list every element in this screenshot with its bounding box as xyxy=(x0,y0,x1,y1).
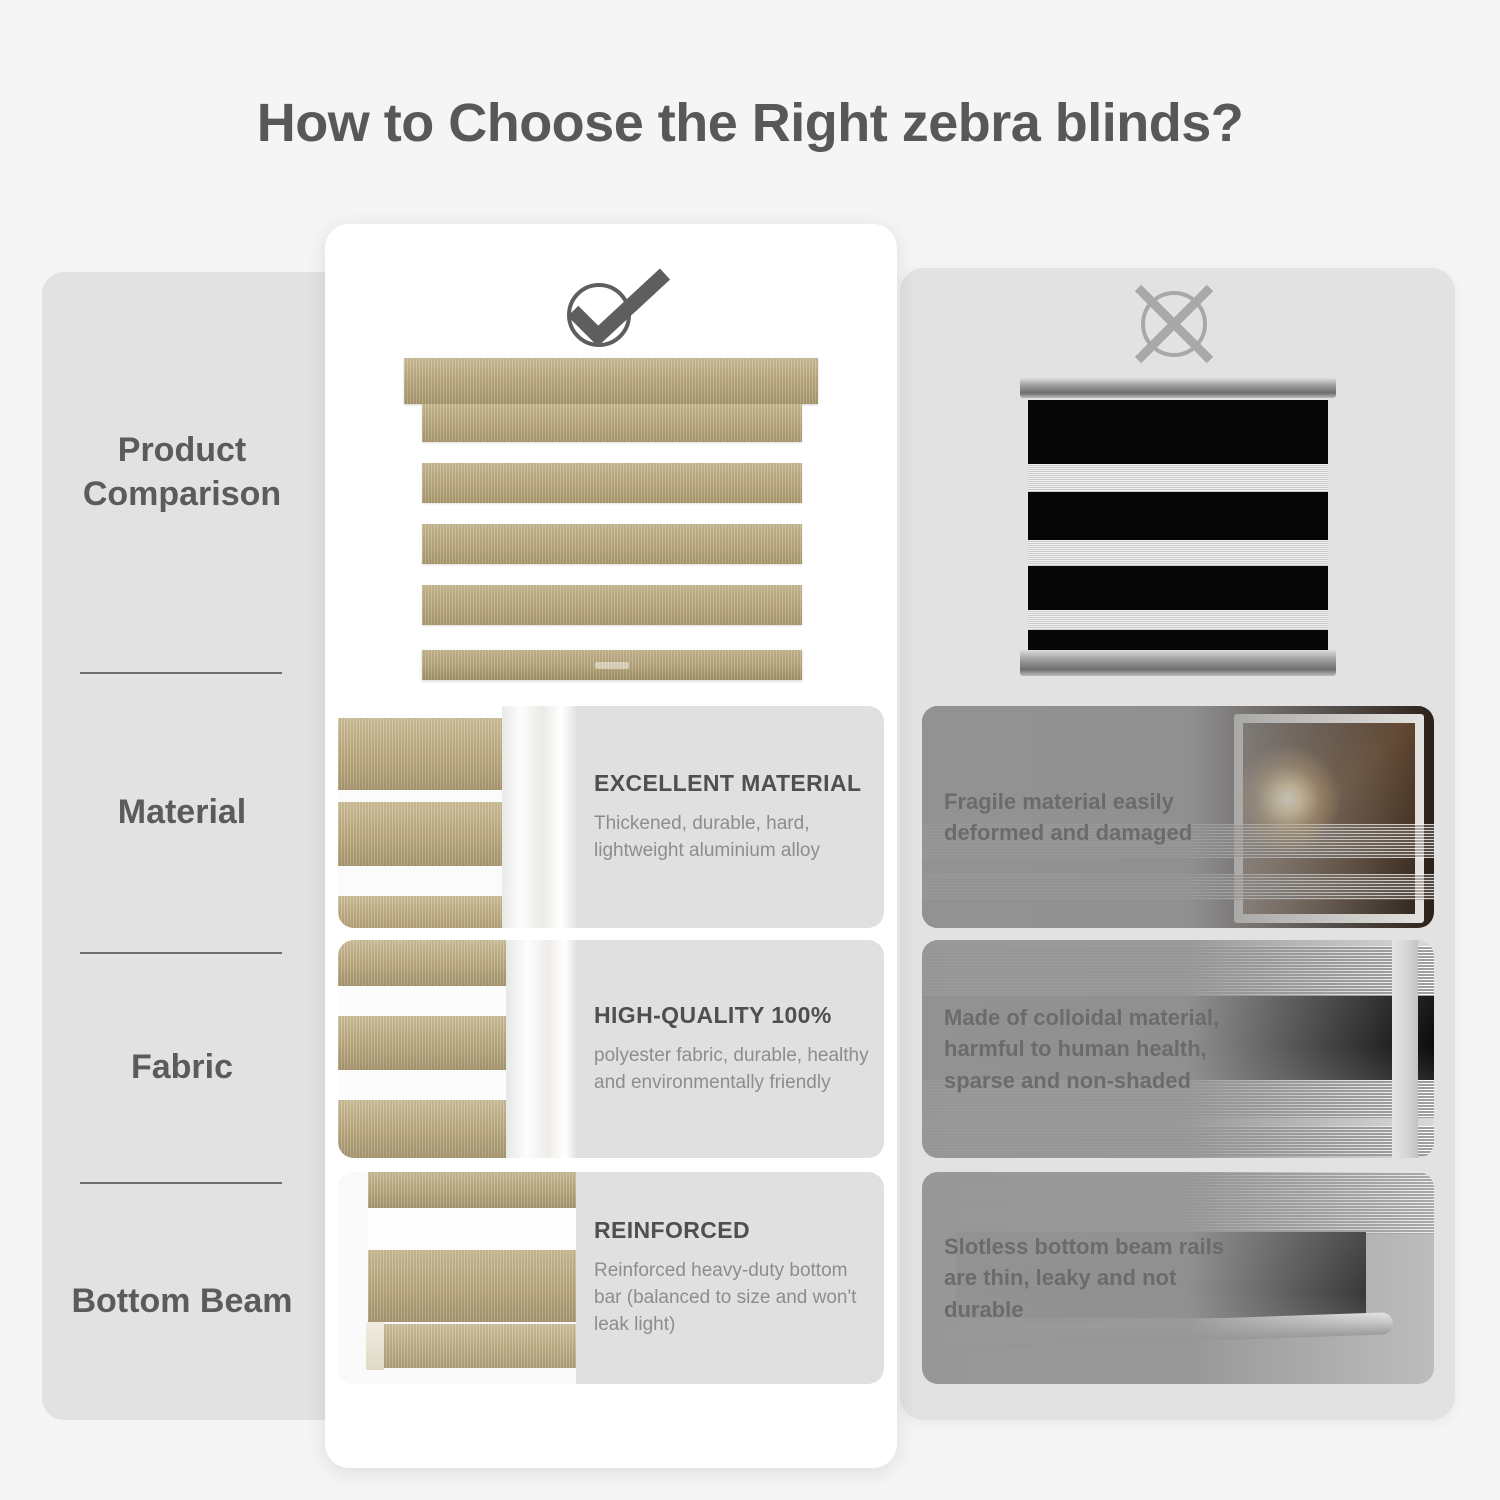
blind-opaque-band xyxy=(1028,630,1328,652)
feature-body: Reinforced heavy-duty bottom bar (balanc… xyxy=(594,1258,870,1339)
sidebar-item-fabric: Fabric xyxy=(42,952,322,1182)
check-circle-icon xyxy=(551,268,671,352)
feature-photo-bottom-beam xyxy=(338,1172,576,1384)
feature-photo-material xyxy=(338,706,576,928)
good-feature-row-fabric: HIGH-QUALITY 100% polyester fabric, dura… xyxy=(338,940,884,1158)
sidebar-item-label: Fabric xyxy=(131,1045,233,1089)
blind-sheer-band xyxy=(1028,540,1328,566)
bad-feature-row-material: Fragile material easily deformed and dam… xyxy=(922,706,1434,928)
sidebar-item-product-comparison: Product Comparison xyxy=(42,272,322,672)
blind-band xyxy=(422,463,802,503)
good-feature-row-bottom-beam: REINFORCED Reinforced heavy-duty bottom … xyxy=(338,1172,884,1384)
blind-headrail xyxy=(1020,378,1336,398)
feature-heading: REINFORCED xyxy=(594,1217,870,1244)
bad-product-hero-image xyxy=(1020,378,1336,678)
bad-feature-text: Made of colloidal material, harmful to h… xyxy=(944,940,1234,1158)
blind-opaque-band xyxy=(1028,400,1328,464)
blind-headrail xyxy=(404,358,818,404)
bad-feature-row-bottom-beam: Slotless bottom beam rails are thin, lea… xyxy=(922,1172,1434,1384)
cross-circle-icon xyxy=(1124,282,1224,366)
blind-band xyxy=(422,404,802,442)
page-title: How to Choose the Right zebra blinds? xyxy=(0,92,1500,154)
comparison-category-rail: Product Comparison Material Fabric Botto… xyxy=(42,272,362,1420)
bad-feature-text: Fragile material easily deformed and dam… xyxy=(944,706,1234,928)
feature-heading: EXCELLENT MATERIAL xyxy=(594,770,870,797)
blind-opaque-band xyxy=(1028,492,1328,540)
blind-bottom-bar xyxy=(422,650,802,680)
blind-sheer-band xyxy=(1028,464,1328,492)
blind-band xyxy=(422,524,802,564)
good-product-hero-image xyxy=(404,358,818,698)
good-feature-row-material: EXCELLENT MATERIAL Thickened, durable, h… xyxy=(338,706,884,928)
blind-opaque-band xyxy=(1028,566,1328,610)
sidebar-item-label: Material xyxy=(118,790,247,834)
sidebar-item-label: Product Comparison xyxy=(42,428,322,516)
blind-sheer-band xyxy=(1028,610,1328,630)
bad-feature-text: Slotless bottom beam rails are thin, lea… xyxy=(944,1172,1234,1384)
feature-heading: HIGH-QUALITY 100% xyxy=(594,1002,870,1029)
sidebar-item-label: Bottom Beam xyxy=(71,1279,292,1323)
blind-bottom-rail xyxy=(1020,650,1336,676)
feature-photo-fabric xyxy=(338,940,576,1158)
feature-body: polyester fabric, durable, healthy and e… xyxy=(594,1043,870,1097)
blind-band xyxy=(422,585,802,625)
feature-body: Thickened, durable, hard, lightweight al… xyxy=(594,811,870,865)
sidebar-item-bottom-beam: Bottom Beam xyxy=(42,1182,322,1420)
sidebar-item-material: Material xyxy=(42,672,322,952)
bad-feature-row-fabric: Made of colloidal material, harmful to h… xyxy=(922,940,1434,1158)
